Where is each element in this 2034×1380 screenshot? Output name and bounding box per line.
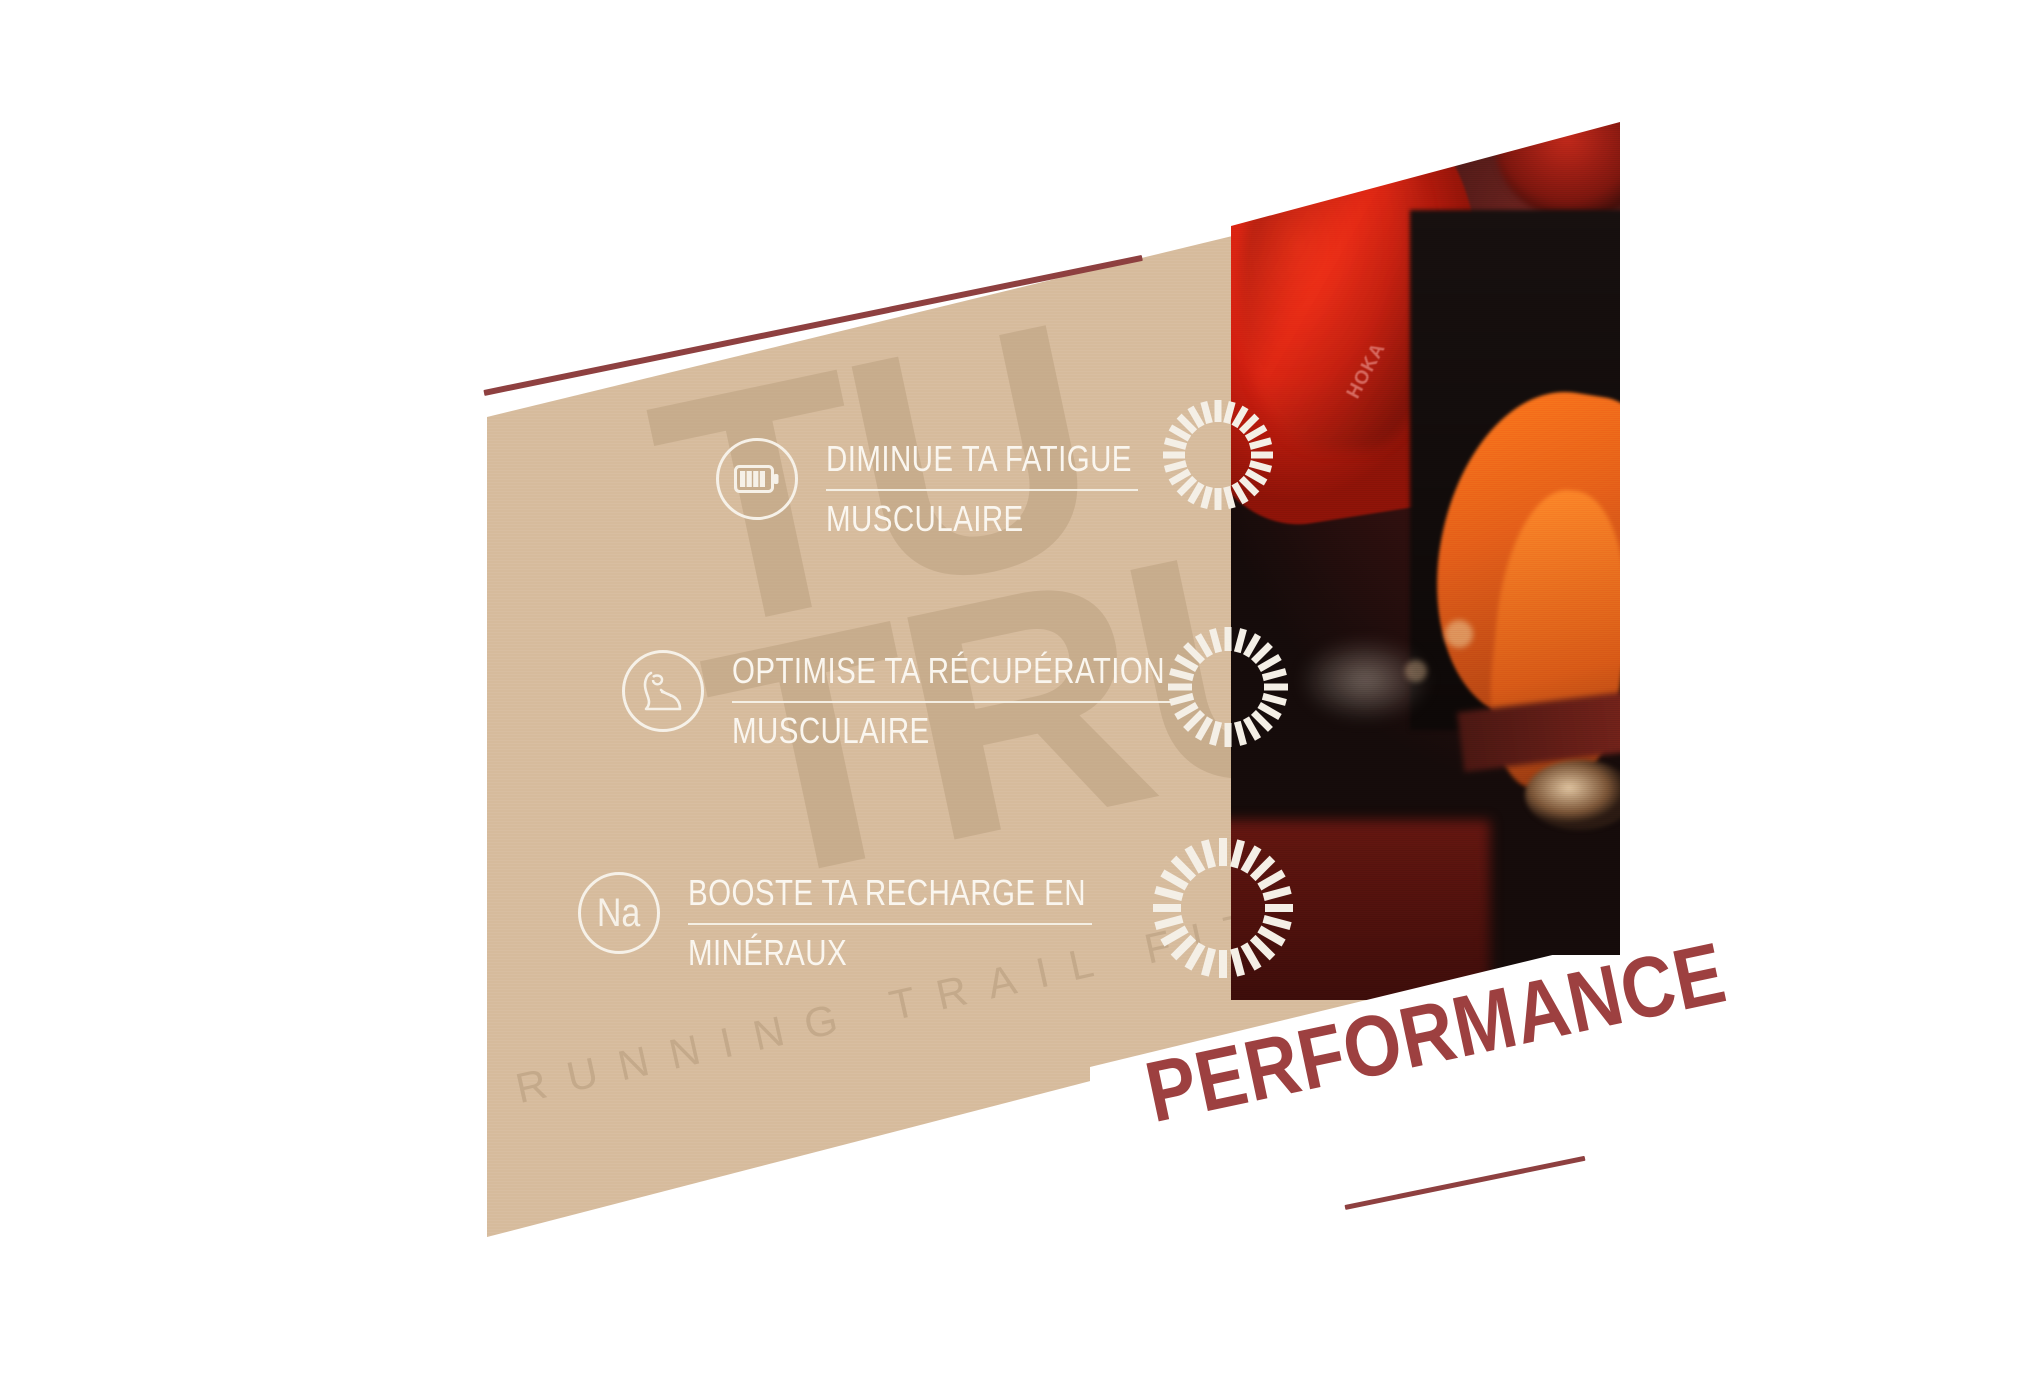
slide-canvas: TU TRU RUNNING TRAIL FITNESS HOKA xyxy=(0,0,2034,1380)
feature-line-2: MUSCULAIRE xyxy=(732,710,1165,752)
feature-line-1: BOOSTE TA RECHARGE EN xyxy=(688,872,1086,914)
feature-text: BOOSTE TA RECHARGE EN MINÉRAUX xyxy=(688,872,1173,974)
feature-row-recovery: OPTIMISE TA RÉCUPÉRATION MUSCULAIRE xyxy=(622,650,1260,752)
feature-row-minerals: Na BOOSTE TA RECHARGE EN MINÉRAUX xyxy=(578,872,1173,974)
feature-line-2: MINÉRAUX xyxy=(688,932,1086,974)
runner-photo-content: HOKA xyxy=(1230,100,1620,1000)
photo-grain xyxy=(1230,100,1620,1000)
sodium-na-icon: Na xyxy=(578,872,660,954)
runner-photo: HOKA xyxy=(1230,100,1620,1000)
feature-underline xyxy=(688,923,1092,925)
feature-underline xyxy=(732,701,1171,703)
feature-line-1: DIMINUE TA FATIGUE xyxy=(826,438,1132,480)
feature-row-fatigue: DIMINUE TA FATIGUE MUSCULAIRE xyxy=(716,438,1199,540)
flexed-bicep-icon xyxy=(622,650,704,732)
battery-icon xyxy=(716,438,798,520)
sunburst-ring-bottom xyxy=(1173,858,1273,958)
feature-text: DIMINUE TA FATIGUE MUSCULAIRE xyxy=(826,438,1199,540)
feature-underline xyxy=(826,489,1138,491)
feature-line-1: OPTIMISE TA RÉCUPÉRATION xyxy=(732,650,1165,692)
feature-line-2: MUSCULAIRE xyxy=(826,498,1132,540)
feature-text: OPTIMISE TA RÉCUPÉRATION MUSCULAIRE xyxy=(732,650,1260,752)
sodium-symbol-label: Na xyxy=(597,893,640,933)
